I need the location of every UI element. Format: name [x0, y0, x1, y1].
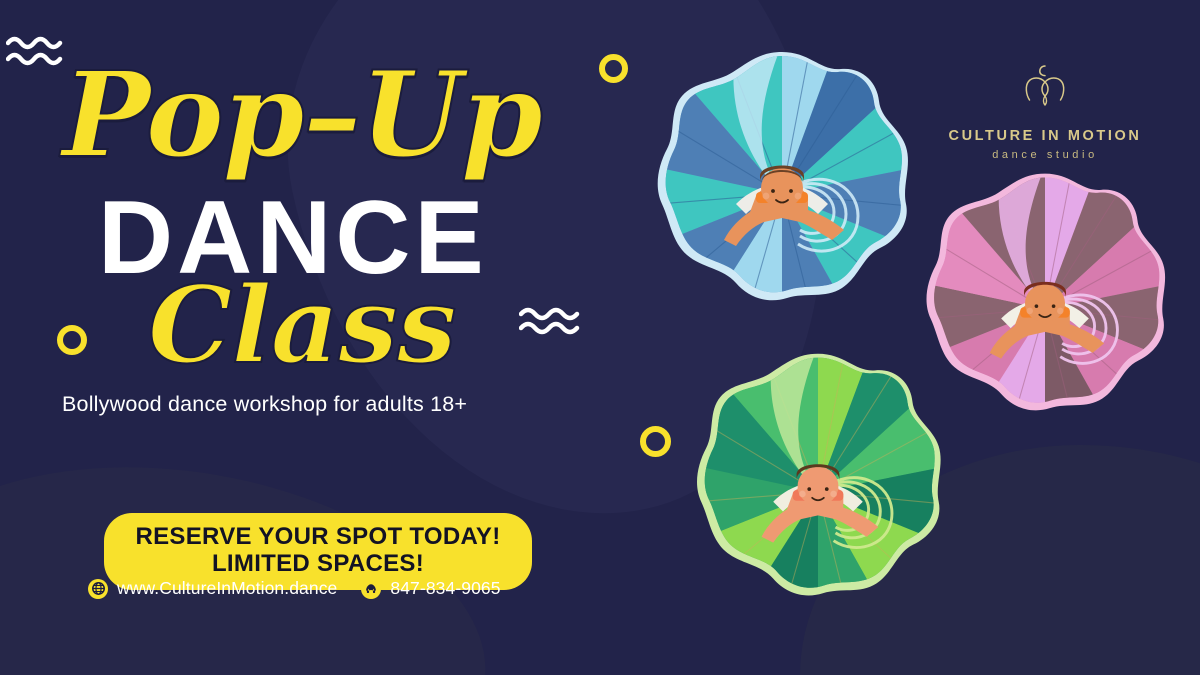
globe-icon	[88, 579, 108, 599]
cta-line-2: LIMITED SPACES!	[114, 551, 522, 578]
logo-tagline: dance studio	[930, 149, 1160, 161]
contact-row: www.CultureInMotion.dance 847-834-9065	[88, 578, 501, 599]
ring-yellow-bottom-icon	[640, 426, 671, 457]
phone-text: 847-834-9065	[390, 578, 500, 599]
title-line-class: Class	[148, 272, 456, 378]
brand-logo: CULTURE IN MOTION dance studio	[930, 58, 1160, 161]
title-line-popup: Pop–Up	[62, 56, 541, 174]
website-text: www.CultureInMotion.dance	[117, 578, 337, 599]
logo-name: CULTURE IN MOTION	[930, 128, 1160, 144]
subtitle: Bollywood dance workshop for adults 18+	[62, 392, 467, 417]
contact-phone[interactable]: 847-834-9065	[361, 578, 500, 599]
contact-website[interactable]: www.CultureInMotion.dance	[88, 578, 337, 599]
green-twirling-dancer	[672, 346, 964, 638]
dancer-monogram-icon	[1014, 58, 1076, 120]
cta-line-1: RESERVE YOUR SPOT TODAY!	[114, 524, 522, 551]
blue-twirling-dancer	[632, 44, 932, 344]
phone-icon	[361, 579, 381, 599]
poster-canvas: Pop–Up DANCE Class Bollywood dance works…	[0, 0, 1200, 675]
headline-block: Pop–Up DANCE Class	[0, 0, 640, 440]
